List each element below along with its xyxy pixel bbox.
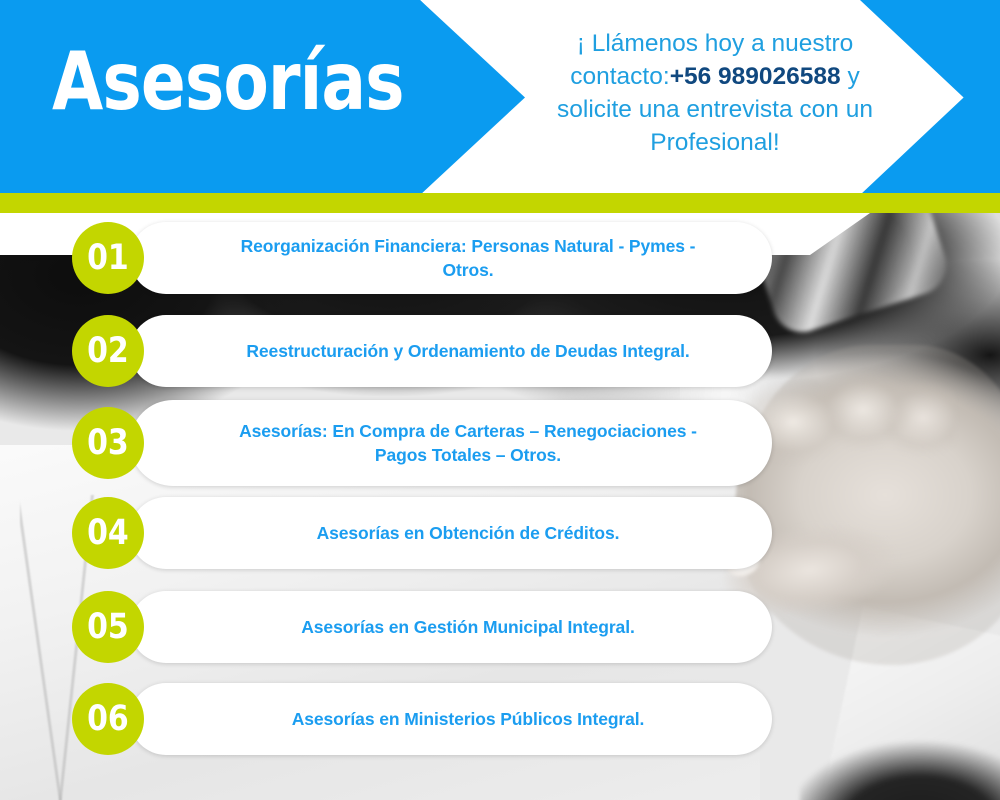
service-number: 02 [87,334,129,369]
service-number-badge: 04 [72,497,144,569]
list-item[interactable]: Reorganización Financiera: Personas Natu… [72,222,772,294]
service-pill[interactable]: Asesorías en Obtención de Créditos. [130,497,772,569]
service-number-badge: 02 [72,315,144,387]
service-number: 04 [87,516,129,551]
service-label: Reestructuración y Ordenamiento de Deuda… [216,339,720,363]
service-label: Asesorías: En Compra de Carteras – Reneg… [216,419,720,467]
service-number: 03 [87,426,129,461]
service-number-badge: 05 [72,591,144,663]
service-pill[interactable]: Reorganización Financiera: Personas Natu… [130,222,772,294]
service-number-badge: 03 [72,407,144,479]
service-number: 06 [87,702,129,737]
list-item[interactable]: Reestructuración y Ordenamiento de Deuda… [72,315,772,387]
service-number-badge: 01 [72,222,144,294]
service-label: Asesorías en Ministerios Públicos Integr… [216,707,720,731]
service-number-badge: 06 [72,683,144,755]
services-list: Reorganización Financiera: Personas Natu… [0,0,1000,800]
list-item[interactable]: Asesorías en Obtención de Créditos. 04 [72,497,772,569]
service-pill[interactable]: Reestructuración y Ordenamiento de Deuda… [130,315,772,387]
service-pill[interactable]: Asesorías en Gestión Municipal Integral. [130,591,772,663]
service-number: 05 [87,610,129,645]
service-pill[interactable]: Asesorías: En Compra de Carteras – Reneg… [130,400,772,486]
list-item[interactable]: Asesorías en Gestión Municipal Integral.… [72,591,772,663]
service-label: Asesorías en Gestión Municipal Integral. [216,615,720,639]
service-label: Asesorías en Obtención de Créditos. [216,521,720,545]
asesorias-infographic: Asesorías ¡ Llámenos hoy a nuestro conta… [0,0,1000,800]
service-number: 01 [87,241,129,276]
service-label: Reorganización Financiera: Personas Natu… [216,234,720,282]
list-item[interactable]: Asesorías: En Compra de Carteras – Reneg… [72,400,772,486]
service-pill[interactable]: Asesorías en Ministerios Públicos Integr… [130,683,772,755]
list-item[interactable]: Asesorías en Ministerios Públicos Integr… [72,683,772,755]
